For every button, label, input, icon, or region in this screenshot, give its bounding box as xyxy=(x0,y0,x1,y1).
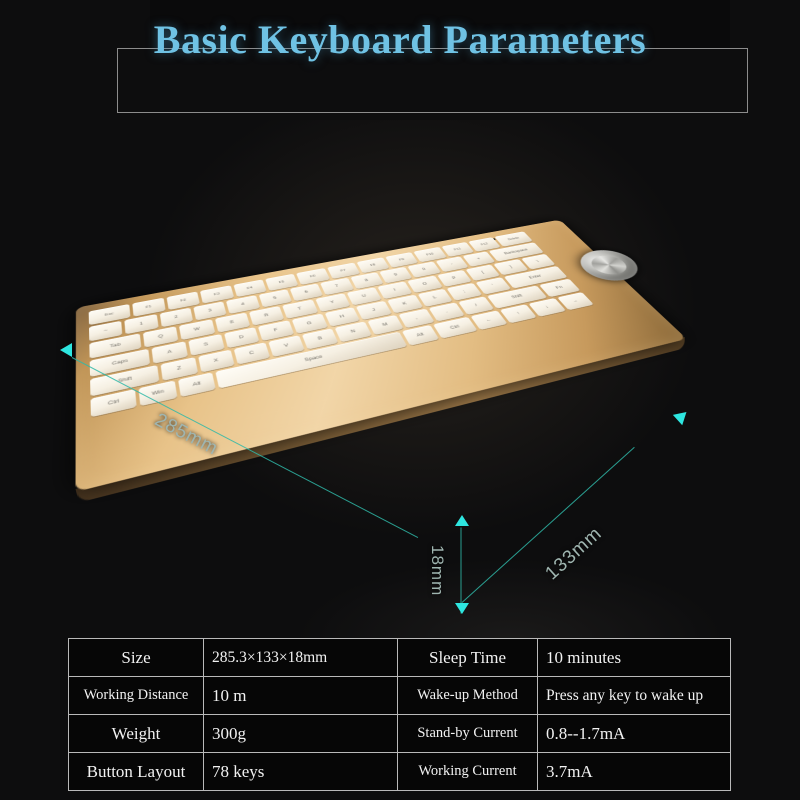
key-alt[interactable]: Alt xyxy=(402,325,440,346)
page-title: Basic Keyboard Parameters xyxy=(0,16,800,63)
infographic-canvas: Basic Keyboard Parameters EscF1F2F3F4F5F… xyxy=(0,0,800,800)
table-row: Working Distance10 mWake-up MethodPress … xyxy=(69,677,731,715)
spec-value: 0.8--1.7mA xyxy=(538,715,731,753)
key-grid: EscF1F2F3F4F5F6F7F8F9F10F11F12Delete~123… xyxy=(89,231,633,478)
table-row: Weight300gStand-by Current0.8--1.7mA xyxy=(69,715,731,753)
table-row: Button Layout78 keysWorking Current3.7mA xyxy=(69,753,731,791)
spec-label: Sleep Time xyxy=(398,639,538,677)
spec-label: Button Layout xyxy=(69,753,204,791)
keyboard-device: EscF1F2F3F4F5F6F7F8F9F10F11F12Delete~123… xyxy=(76,220,687,492)
spec-value: 285.3×133×18mm xyxy=(204,639,398,677)
specification-table: Size285.3×133×18mmSleep Time10 minutesWo… xyxy=(68,638,731,791)
spec-value: 3.7mA xyxy=(538,753,731,791)
spec-value: Press any key to wake up xyxy=(538,677,731,715)
table-row: Size285.3×133×18mmSleep Time10 minutes xyxy=(69,639,731,677)
spec-label: Weight xyxy=(69,715,204,753)
spec-value: 10 m xyxy=(204,677,398,715)
spec-label: Size xyxy=(69,639,204,677)
spec-label: Stand-by Current xyxy=(398,715,538,753)
spec-value: 300g xyxy=(204,715,398,753)
specification-table-body: Size285.3×133×18mmSleep Time10 minutesWo… xyxy=(69,639,731,791)
spec-label: Working Distance xyxy=(69,677,204,715)
spec-label: Working Current xyxy=(398,753,538,791)
keyboard-photo: EscF1F2F3F4F5F6F7F8F9F10F11F12Delete~123… xyxy=(0,120,800,620)
spec-label: Wake-up Method xyxy=(398,677,538,715)
spec-value: 78 keys xyxy=(204,753,398,791)
spec-value: 10 minutes xyxy=(538,639,731,677)
